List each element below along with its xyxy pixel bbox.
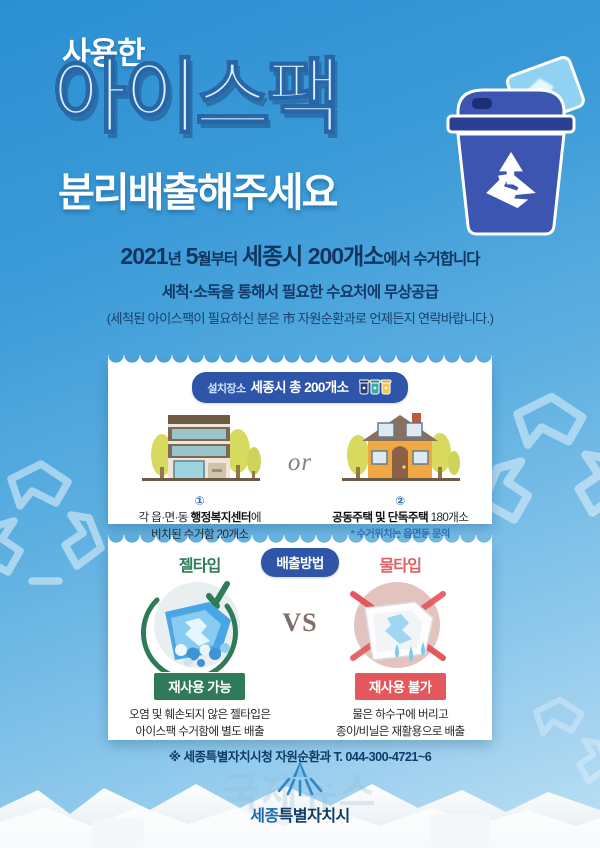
caption-part: 에 — [251, 511, 261, 524]
card-locations: 설치장소세종시 총 200개소 — [108, 364, 492, 524]
water-icepack-icon — [327, 578, 474, 677]
headline-tail: 에서 수거합니다 — [383, 251, 479, 268]
headline-year: 2021 — [120, 243, 167, 269]
card-scallop-edge — [108, 355, 492, 365]
headline-month: 5 — [186, 243, 198, 269]
gel-icepack-icon — [126, 578, 273, 677]
headline-month-unit: 월부터 — [197, 251, 237, 268]
gel-type-heading: 젤타입 — [126, 552, 273, 576]
office-building-icon — [126, 407, 273, 490]
page-title: 아이스팩 — [52, 57, 338, 139]
method-caption-line2: 아이스팩 수거함에 별도 배출 — [135, 725, 264, 738]
subtitle-line3: (세척된 아이스팩이 필요하신 분은 市 자원순환과로 언제든지 연락바랍니다.… — [0, 308, 600, 327]
method-caption-line1: 물은 하수구에 버리고 — [352, 708, 448, 721]
method-caption-line2: 종이/비닐은 재활용으로 배출 — [336, 725, 465, 738]
logo-name: 세종 — [250, 808, 278, 825]
poster-header: 사용한 아이스팩 분리배출해주세요 — [0, 0, 600, 236]
sejong-logo-text: 세종특별자치시 — [0, 802, 600, 826]
recycle-sketch-icon — [0, 452, 116, 602]
water-type-heading: 물타입 — [327, 552, 474, 576]
sejong-logo: 세종특별자치시 — [0, 759, 600, 826]
headline-year-unit: 년 — [168, 251, 181, 268]
poster-root: 사용한 아이스팩 분리배출해주세요 — [0, 0, 600, 848]
logo-suffix: 특별자치시 — [279, 808, 350, 825]
or-text: or — [273, 449, 326, 477]
headline-count: 세종시 200개소 — [242, 243, 384, 269]
badge-row: 설치장소세종시 총 200개소 — [108, 364, 492, 403]
card-scallop-edge — [108, 535, 492, 545]
recycle-bin-icon — [436, 52, 586, 238]
reuse-impossible-label: 재사용 불가 — [355, 673, 446, 700]
location-option-left: ① 각 읍·면·동 행정복지센터에 비치된 수거함 20개소 — [126, 407, 273, 544]
vs-divider: VS — [273, 552, 326, 638]
caption-bold: 공동주택 및 단독주택 — [332, 511, 428, 524]
option-number: ① — [126, 494, 273, 508]
option-number: ② — [327, 494, 474, 508]
method-caption-line1: 오염 및 훼손되지 않은 젤타입은 — [129, 708, 270, 721]
method-option-water: 물타입 — [327, 552, 474, 741]
reuse-possible-label: 재사용 가능 — [154, 673, 245, 700]
vs-text: VS — [273, 608, 326, 638]
caption-bold: 행정복지센터 — [191, 511, 251, 524]
caption-part: 180개소 — [428, 511, 468, 524]
locations-badge-main: 세종시 총 200개소 — [250, 380, 348, 395]
subtitle-line2: 세척·소독을 통해서 필요한 수요처에 무상공급 — [0, 280, 600, 302]
sejong-wing-logo-icon — [0, 759, 600, 806]
card-method: 젤타입 — [108, 544, 492, 740]
headline: 2021년 5월부터 세종시 200개소에서 수거합니다 — [0, 243, 600, 271]
caption-part: 각 읍·면·동 — [138, 511, 190, 524]
method-option-gel: 젤타입 — [126, 552, 273, 741]
three-bins-icon — [359, 379, 393, 398]
or-divider: or — [273, 407, 326, 477]
locations-badge-small: 설치장소 — [207, 383, 245, 395]
location-option-right: ② 공동주택 및 단독주택 180개소 * 수거위치는 읍면동 문의 — [327, 407, 474, 543]
house-icon — [327, 407, 474, 490]
locations-badge: 설치장소세종시 총 200개소 — [192, 372, 407, 403]
title-sub: 분리배출해주세요 — [58, 160, 336, 218]
subtitle-block: 2021년 5월부터 세종시 200개소에서 수거합니다 세척·소독을 통해서 … — [0, 243, 600, 327]
